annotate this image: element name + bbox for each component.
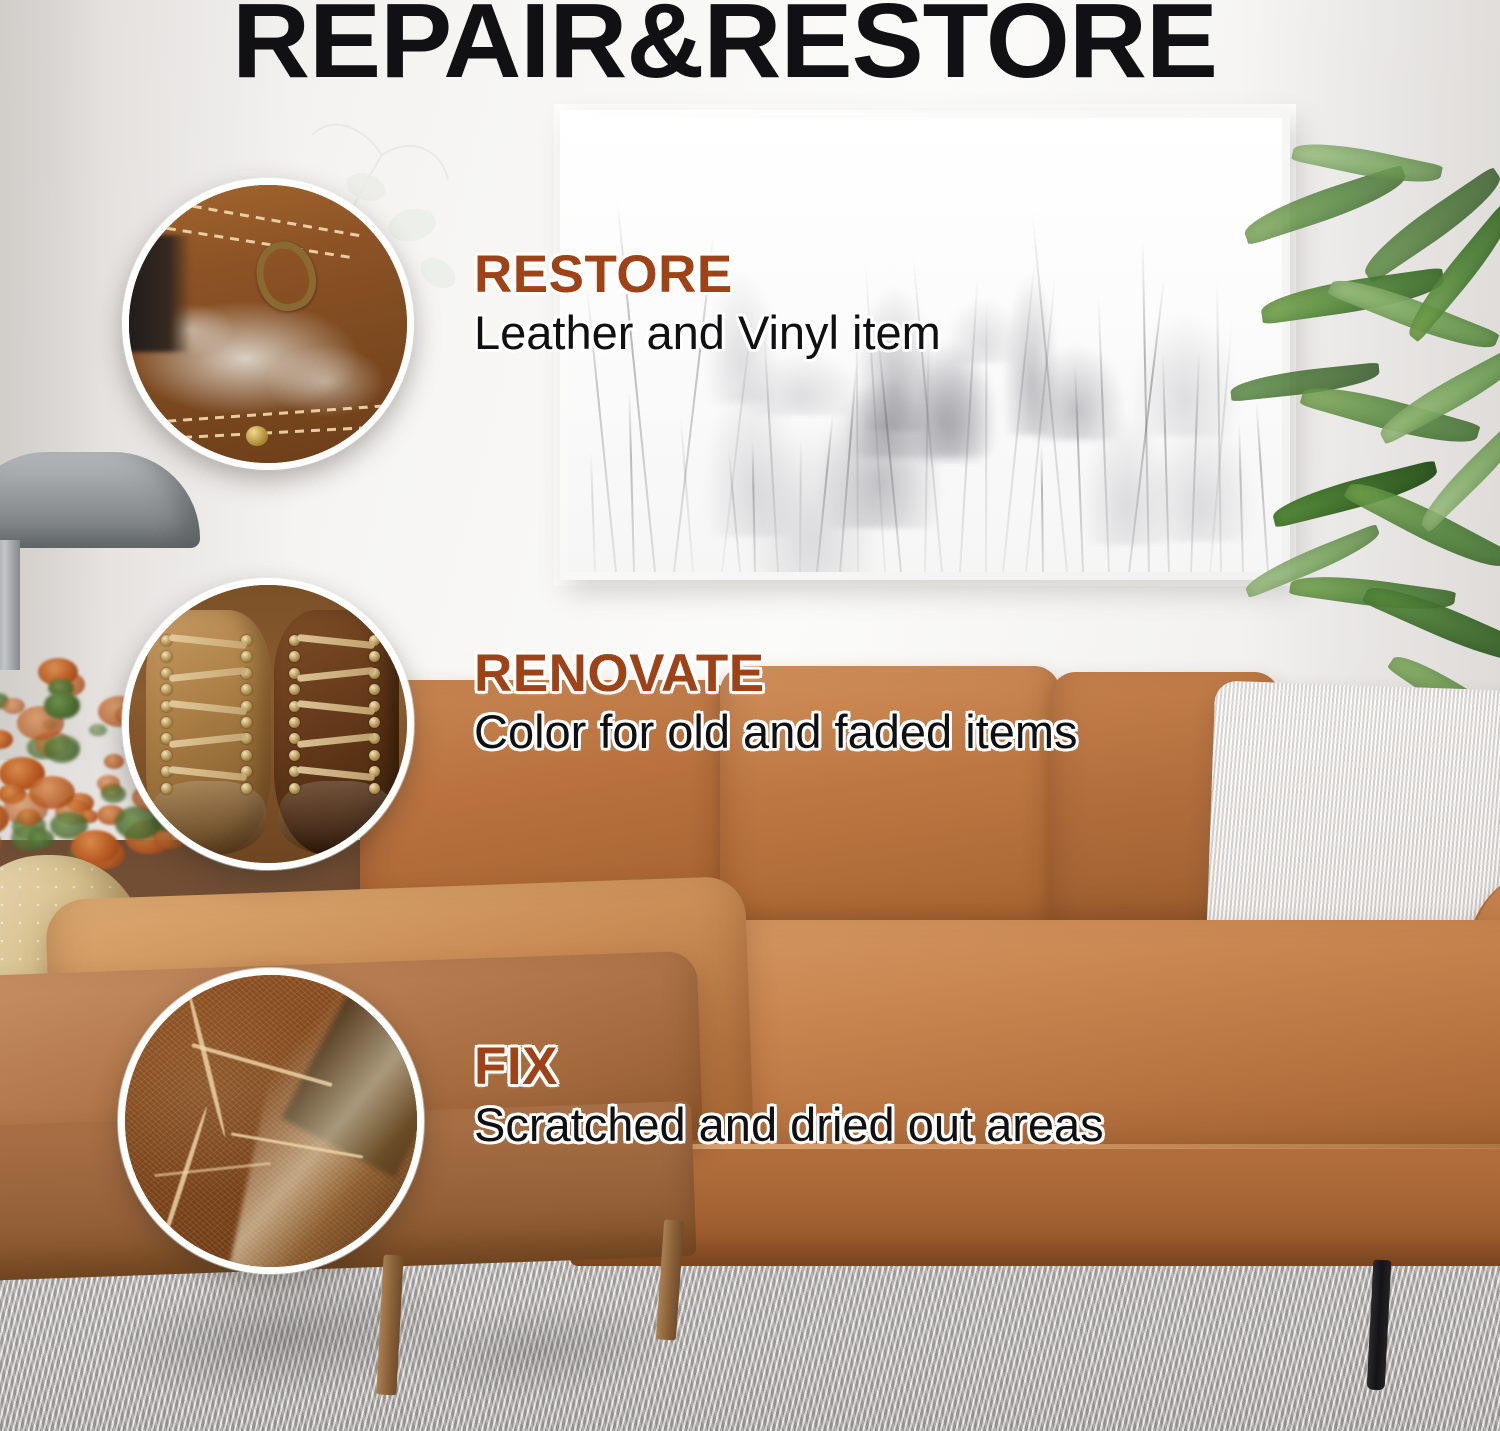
boot-eyelet	[289, 651, 300, 662]
callout-renovate-heading: RENOVATE	[474, 645, 1078, 702]
ottoman-leg-right	[376, 1255, 403, 1396]
boot-eyelet	[241, 750, 252, 761]
boot-eyelet	[161, 783, 172, 794]
brass-rivet	[246, 426, 268, 446]
scratch-photo-content	[125, 975, 417, 1267]
flower-foliage	[28, 829, 55, 848]
bag-photo-content	[129, 185, 407, 463]
boot-lace	[297, 700, 375, 715]
flower-foliage	[89, 724, 107, 737]
boots-photo-content	[129, 585, 407, 863]
art-brush-stroke	[589, 451, 595, 572]
callout-restore: RESTORE Leather and Vinyl item	[474, 246, 941, 359]
flower-foliage	[101, 785, 126, 803]
page-title: REPAIR&RESTORE	[232, 0, 1217, 97]
boot-eyelet	[241, 783, 252, 794]
boot-eyelets-left	[146, 630, 271, 801]
boot-eyelet	[369, 651, 380, 662]
callout-renovate-subheading: Color for old and faded items	[474, 706, 1078, 758]
boot-eyelets-right	[274, 630, 399, 801]
callout-fix: FIX Scratched and dried out areas	[474, 1038, 1104, 1151]
boot-faded-left	[146, 610, 271, 855]
boot-eyelet	[241, 717, 252, 728]
dried-flower-head	[2, 698, 25, 714]
boot-eyelet	[161, 750, 172, 761]
boot-lace	[297, 634, 375, 649]
boot-eyelet	[289, 684, 300, 695]
boot-eyelet	[369, 684, 380, 695]
callout-restore-subheading: Leather and Vinyl item	[474, 307, 941, 359]
art-brush-stroke	[628, 390, 635, 572]
callout-fix-subheading: Scratched and dried out areas	[474, 1099, 1104, 1151]
boot-eyelet	[161, 684, 172, 695]
boot-lace	[297, 667, 375, 682]
product-infographic: REPAIR&RESTORE RESTORE Leather and Vinyl…	[0, 0, 1500, 1431]
boot-eyelet	[369, 783, 380, 794]
dried-flower-head	[0, 827, 1, 858]
boot-eyelet	[241, 651, 252, 662]
art-bloom	[743, 421, 880, 572]
art-brush-stroke	[1040, 445, 1044, 572]
boot-eyelet	[369, 750, 380, 761]
callout-renovate: RENOVATE Color for old and faded items	[474, 645, 1078, 758]
boot-eyelet	[369, 717, 380, 728]
boot-lace	[169, 634, 247, 649]
boot-eyelet	[161, 651, 172, 662]
callout-restore-heading: RESTORE	[474, 246, 941, 303]
dried-flower-head	[17, 809, 40, 826]
boot-lace	[169, 667, 247, 682]
flower-foliage	[44, 692, 81, 718]
dried-flower-head	[104, 754, 125, 769]
boot-restored-right	[274, 610, 399, 855]
boot-lace	[297, 733, 375, 748]
flower-foliage	[45, 738, 79, 763]
boot-lace	[169, 733, 247, 748]
boot-eyelet	[241, 684, 252, 695]
boot-eyelet	[289, 783, 300, 794]
worn-leather-boots-photo	[122, 578, 414, 870]
art-bloom	[1001, 268, 1061, 436]
boot-eyelet	[289, 750, 300, 761]
bag-shadow-edge	[122, 235, 191, 352]
dried-flower-head	[0, 730, 13, 749]
boot-eyelet	[289, 717, 300, 728]
moldy-leather-bag-photo	[122, 178, 414, 470]
boot-eyelet	[161, 717, 172, 728]
callout-fix-heading: FIX	[474, 1038, 1104, 1095]
art-bloom	[1080, 410, 1174, 545]
scratched-leather-photo	[118, 968, 424, 1274]
boot-lace	[169, 700, 247, 715]
boot-lace	[169, 766, 247, 781]
boot-lace	[297, 766, 375, 781]
